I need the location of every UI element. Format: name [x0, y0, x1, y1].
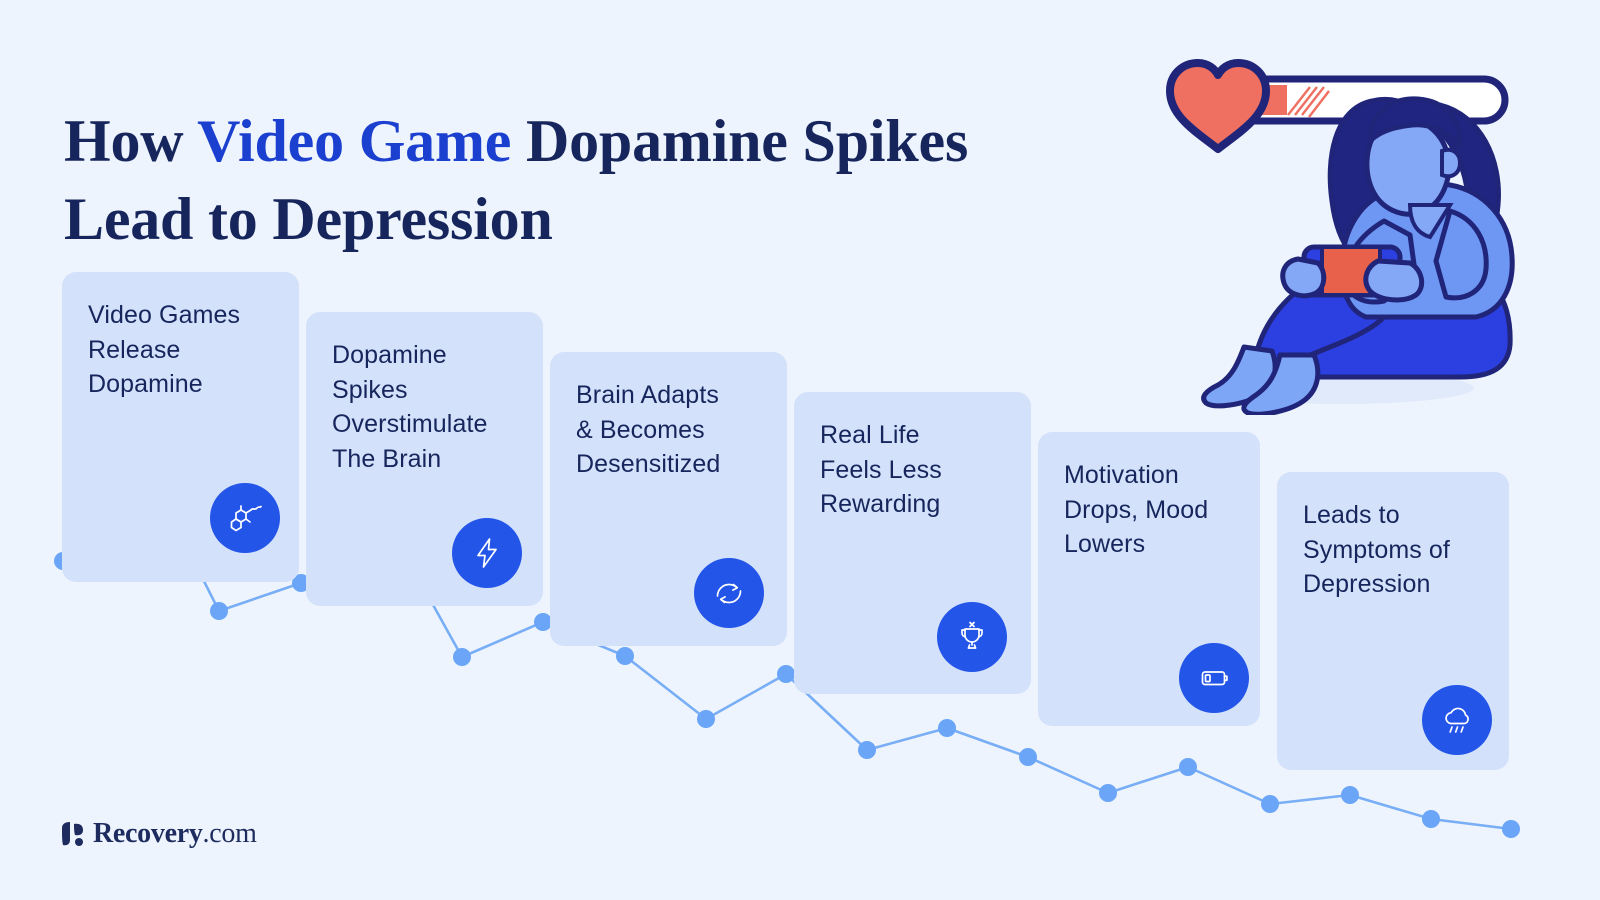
chart-data-point-16: [1261, 795, 1279, 813]
molecule-icon: [227, 500, 263, 536]
chart-data-point-9: [697, 710, 715, 728]
chart-data-point-14: [1099, 784, 1117, 802]
step-card-label: Video Games Release Dopamine: [88, 298, 273, 402]
chart-data-point-18: [1422, 810, 1440, 828]
chart-data-point-6: [453, 648, 471, 666]
chart-data-point-17: [1341, 786, 1359, 804]
badge-refresh-cycle-icon[interactable]: [694, 558, 764, 628]
step-card-label: Motivation Drops, Mood Lowers: [1064, 458, 1234, 562]
badge-molecule-icon[interactable]: [210, 483, 280, 553]
chart-data-point-12: [938, 719, 956, 737]
chart-data-point-3: [210, 602, 228, 620]
logo-tld: .com: [203, 818, 257, 849]
refresh-cycle-icon: [711, 575, 747, 611]
chart-data-point-13: [1019, 748, 1037, 766]
logo-wordmark: Recovery.com: [93, 818, 257, 850]
rain-cloud-icon: [1439, 702, 1475, 738]
lightning-bolt-icon: [469, 535, 505, 571]
hand-left: [1283, 259, 1324, 296]
badge-low-battery-icon[interactable]: [1179, 643, 1249, 713]
step-card-label: Real Life Feels Less Rewarding: [820, 418, 1005, 522]
chart-data-point-10: [777, 665, 795, 683]
recovery-logo[interactable]: Recovery.com: [62, 818, 257, 850]
low-battery-icon: [1196, 660, 1232, 696]
heart-icon: [1170, 63, 1266, 149]
chart-data-point-11: [858, 741, 876, 759]
chart-data-point-19: [1502, 820, 1520, 838]
step-card-label: Leads to Symptoms of Depression: [1303, 498, 1483, 602]
step-card-label: Brain Adapts & Becomes Desensitized: [576, 378, 761, 482]
badge-lightning-bolt-icon[interactable]: [452, 518, 522, 588]
hand-right: [1366, 261, 1422, 300]
badge-trophy-cancel-icon[interactable]: [937, 602, 1007, 672]
chart-data-point-8: [616, 647, 634, 665]
person-sitting-playing-handheld-game: [1120, 55, 1540, 415]
ear: [1442, 150, 1460, 177]
logo-name: Recovery: [93, 818, 203, 849]
recovery-leaf-mark: [62, 822, 84, 846]
chart-data-point-15: [1179, 758, 1197, 776]
badge-rain-cloud-icon[interactable]: [1422, 685, 1492, 755]
step-card-label: Dopamine Spikes Overstimulate The Brain: [332, 338, 517, 476]
trophy-cancel-icon: [954, 619, 990, 655]
infographic-canvas: How Video Game Dopamine Spikes Lead to D…: [0, 0, 1600, 900]
